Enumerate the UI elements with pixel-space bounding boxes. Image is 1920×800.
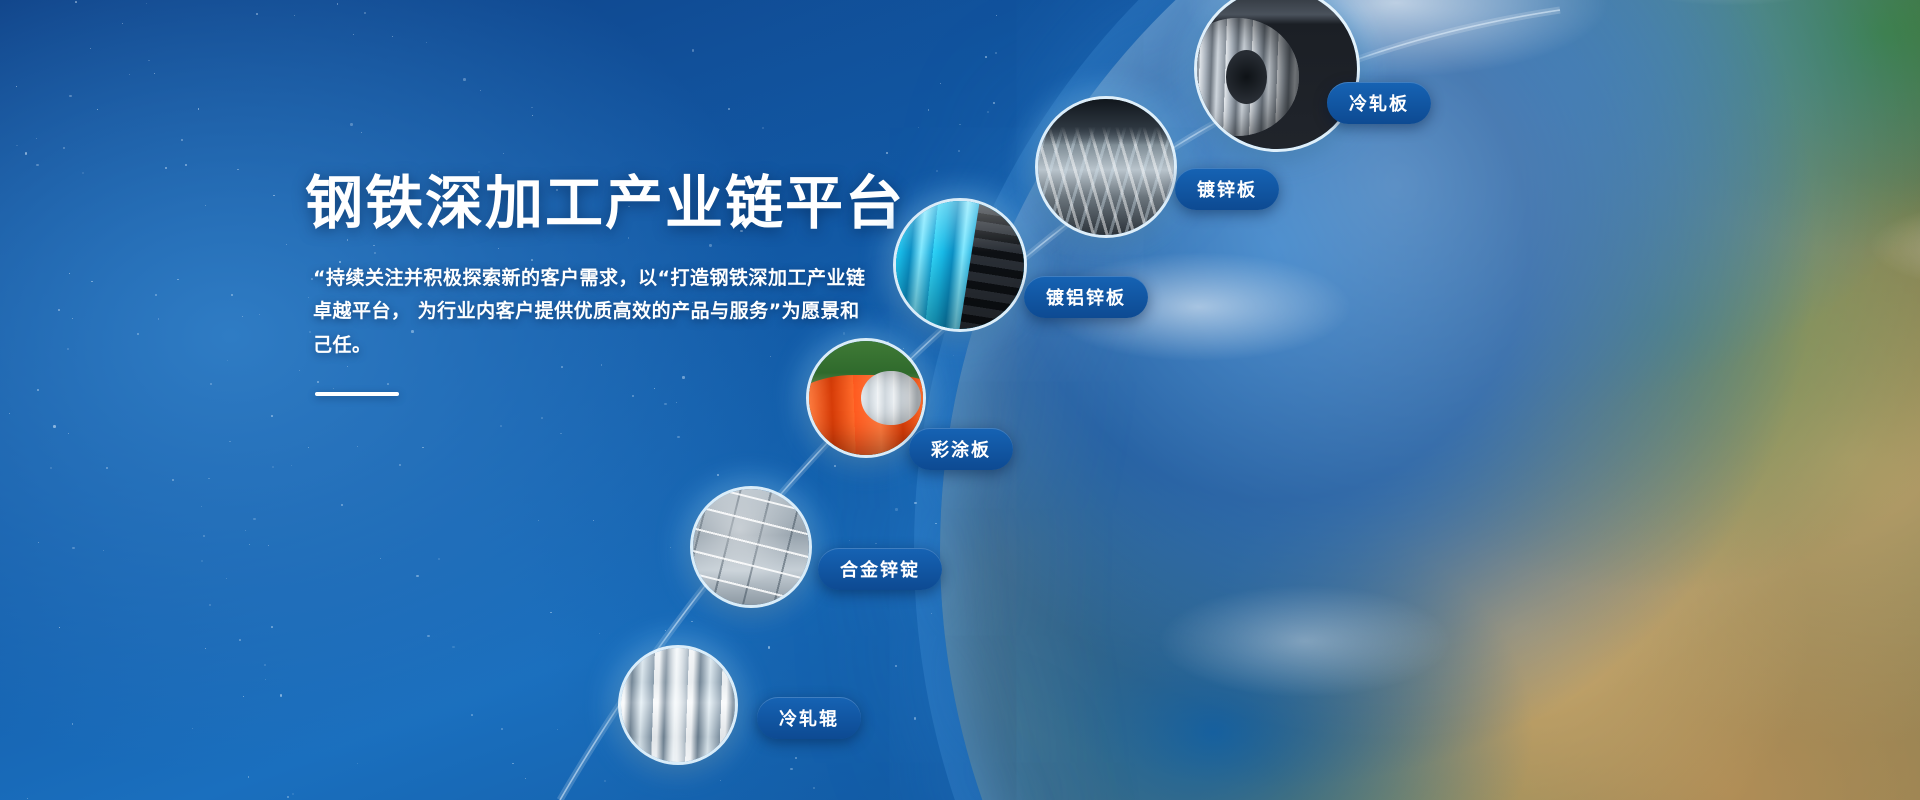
- hero-subtitle: “持续关注并积极探索新的客户需求，以“打造钢铁深加工产业链卓越平台， 为行业内客…: [313, 262, 873, 362]
- product-thumbnail[interactable]: [806, 338, 926, 458]
- zinc-alloy-ingot-stack-photo: [693, 489, 809, 605]
- product-label-chip[interactable]: 合金锌锭: [818, 548, 942, 590]
- product-thumbnail[interactable]: [893, 198, 1027, 332]
- product-label-chip[interactable]: 冷轧板: [1327, 82, 1431, 124]
- product-thumbnail[interactable]: [1035, 96, 1177, 238]
- product-label-chip[interactable]: 镀锌板: [1175, 168, 1279, 210]
- product-thumbnail[interactable]: [618, 645, 738, 765]
- product-thumbnail[interactable]: [1194, 0, 1360, 152]
- starfield-decoration: [0, 0, 1920, 800]
- product-label-chip[interactable]: 彩涂板: [909, 428, 1013, 470]
- aluzinc-blue-coil-line-photo: [896, 201, 1024, 329]
- cold-rolling-roll-photo: [621, 648, 735, 762]
- galvanized-coil-warehouse-photo: [1038, 99, 1174, 235]
- title-divider: [315, 392, 399, 396]
- product-thumbnail[interactable]: [690, 486, 812, 608]
- steel-coil-rows-photo: [1197, 0, 1357, 149]
- hero-banner: 钢铁深加工产业链平台 “持续关注并积极探索新的客户需求，以“打造钢铁深加工产业链…: [0, 0, 1920, 800]
- connector-arc: [0, 0, 1920, 800]
- page-title: 钢铁深加工产业链平台: [305, 170, 925, 236]
- color-coated-orange-coils-photo: [809, 341, 923, 455]
- product-label-chip[interactable]: 镀铝锌板: [1024, 276, 1148, 318]
- product-label-chip[interactable]: 冷轧辊: [757, 697, 861, 739]
